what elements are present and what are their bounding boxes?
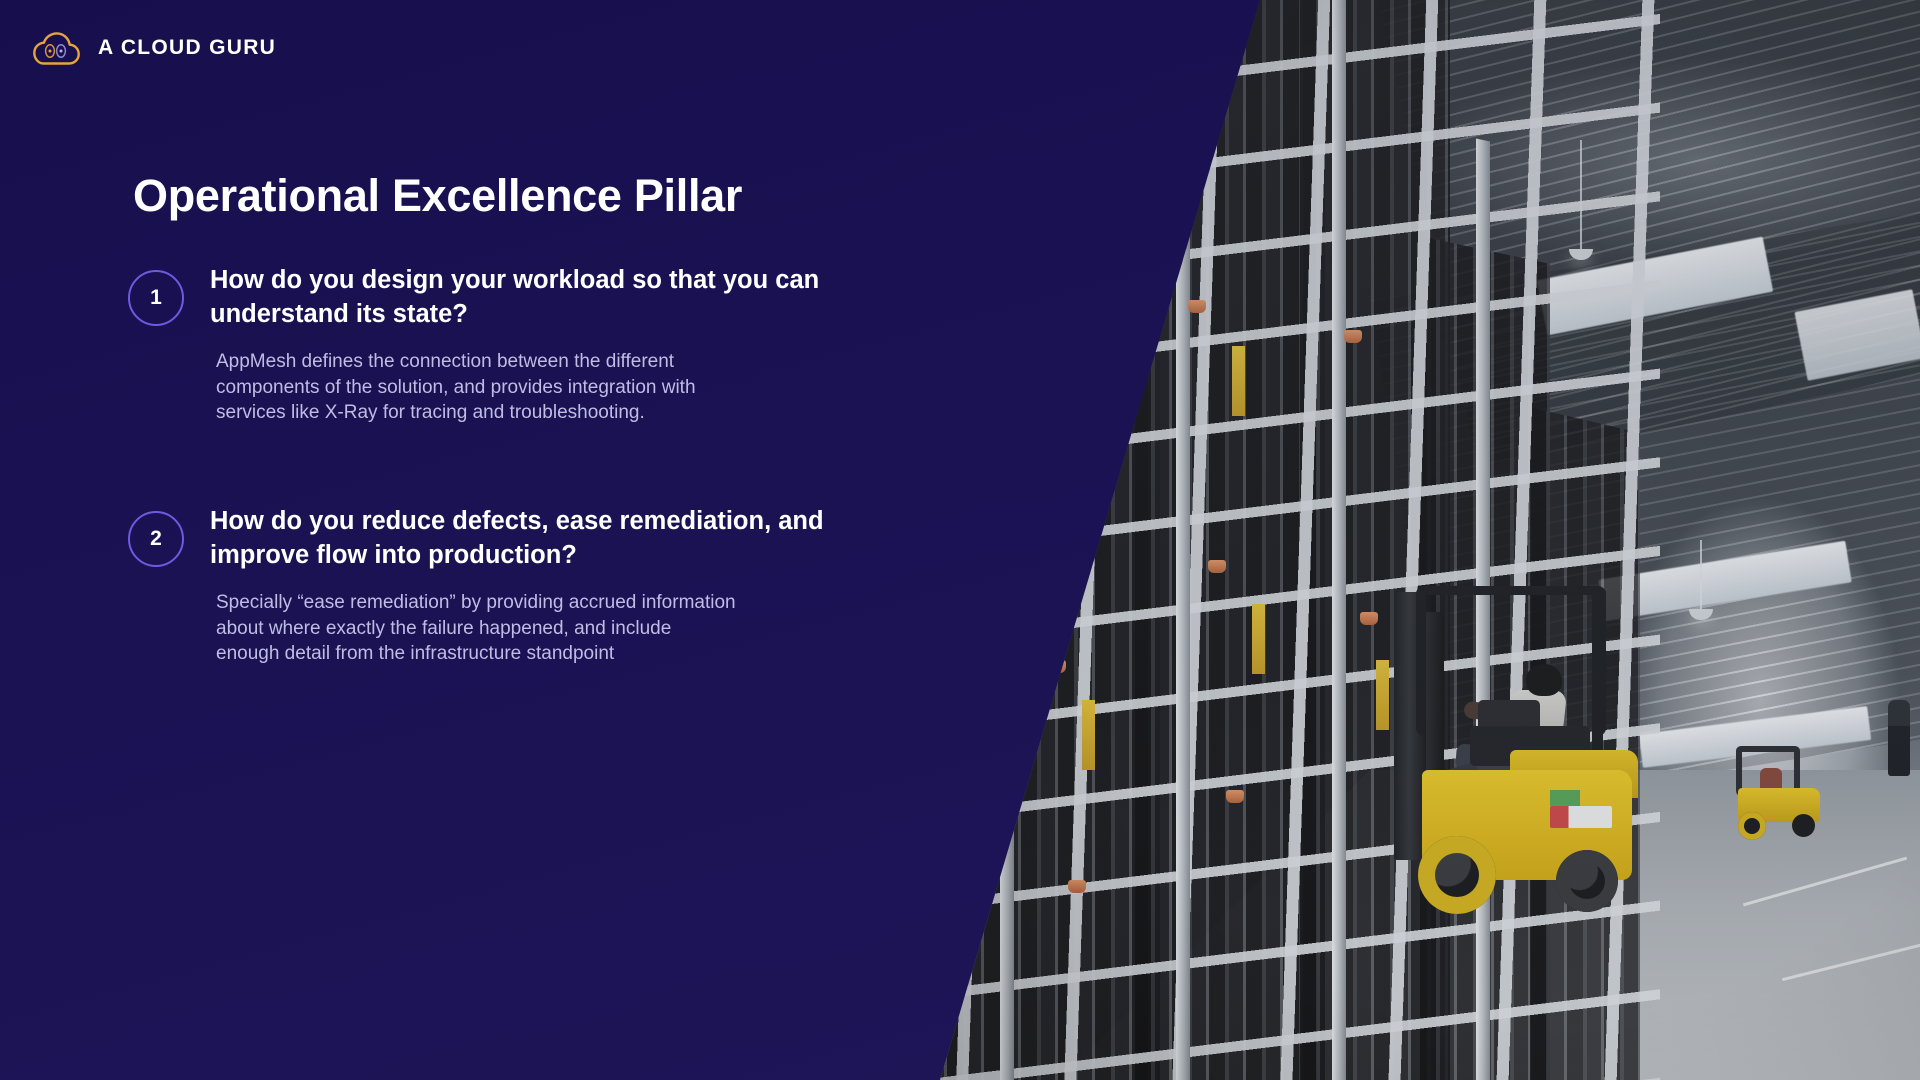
post-cap [1048, 660, 1066, 673]
forklift-rear-wheel [1556, 850, 1618, 912]
question-1-body: AppMesh defines the connection between t… [216, 349, 756, 426]
post-cap [1188, 300, 1206, 313]
rack-post [1000, 0, 1014, 1080]
question-2-body: Specially “ease remediation” by providin… [216, 590, 736, 667]
question-block-2: 2 How do you reduce defects, ease remedi… [128, 505, 888, 667]
warehouse-photo [940, 0, 1920, 1080]
question-1-header: 1 How do you design your workload so tha… [128, 264, 888, 332]
warehouse-photo-panel [940, 0, 1920, 1080]
forklift-sticker-green [1550, 790, 1580, 806]
post-cap [998, 192, 1016, 205]
question-1-number-badge: 1 [128, 270, 184, 326]
brand-name: A CLOUD GURU [98, 36, 276, 60]
post-cap [1208, 560, 1226, 573]
question-block-1: 1 How do you design your workload so tha… [128, 264, 888, 426]
brand-logo[interactable]: A CLOUD GURU [30, 26, 276, 70]
post-marking [1232, 346, 1245, 416]
forklift-far-rear-wheel [1792, 814, 1815, 837]
question-1-title: How do you design your workload so that … [210, 264, 850, 332]
ceiling-lamp-icon [1580, 140, 1582, 250]
post-cap [1068, 880, 1086, 893]
forklift-background [1720, 742, 1830, 838]
cloud-icon [30, 26, 82, 70]
rack-post [1332, 0, 1346, 1080]
question-2-title: How do you reduce defects, ease remediat… [210, 505, 850, 573]
post-marking [1036, 238, 1049, 308]
forklift-far-front-wheel [1738, 812, 1766, 840]
question-2-number-badge: 2 [128, 511, 184, 567]
driver-head [1526, 664, 1562, 696]
forklift-front-wheel [1418, 836, 1496, 914]
post-cap [1226, 790, 1244, 803]
slide-root: A CLOUD GURU Operational Excellence Pill… [0, 0, 1920, 1080]
post-marking [1060, 476, 1073, 546]
post-marking [1082, 700, 1095, 770]
question-2-header: 2 How do you reduce defects, ease remedi… [128, 505, 888, 573]
forklift-foreground [1360, 600, 1680, 930]
post-cap [1026, 430, 1044, 443]
post-cap [1344, 330, 1362, 343]
tyre-rack [940, 0, 1160, 1080]
ceiling-lamp-icon [1700, 540, 1702, 610]
forklift-guard-post [1592, 590, 1603, 770]
forklift-sticker-label [1550, 806, 1612, 828]
rack-post [1176, 0, 1190, 1080]
tyre-rack [1135, 0, 1325, 1080]
page-title: Operational Excellence Pillar [133, 170, 742, 222]
post-marking [1252, 604, 1265, 674]
warehouse-worker [1888, 700, 1910, 776]
